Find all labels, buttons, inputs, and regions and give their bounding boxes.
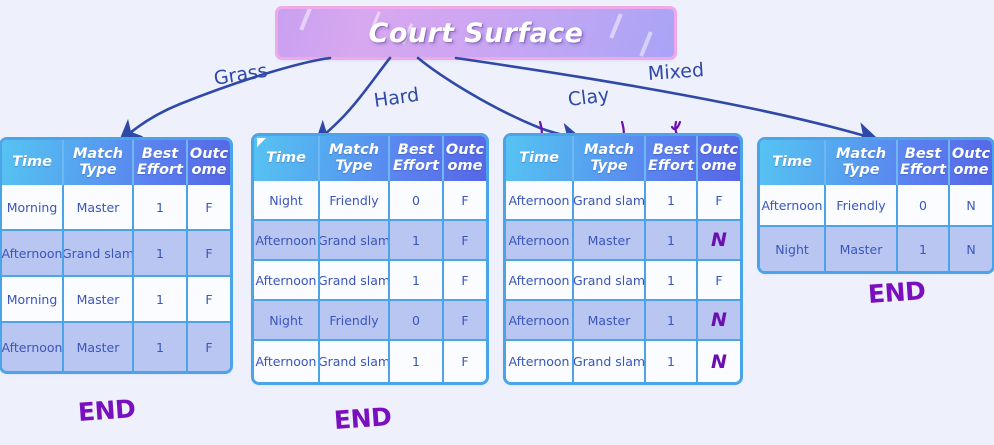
- column-header-match-type: MatchType: [64, 140, 134, 185]
- column-header-best-effort: BestEffort: [390, 136, 444, 181]
- table-row[interactable]: Afternoon Grand slam 1 F: [254, 221, 486, 261]
- cell-time: Afternoon: [506, 221, 574, 261]
- cell-time: Afternoon: [254, 221, 320, 261]
- end-annotation-grass: END: [77, 394, 136, 427]
- cell-best-effort: 1: [390, 341, 444, 382]
- leaf-table-hard[interactable]: Time MatchType BestEffort Outcome Night …: [254, 136, 486, 382]
- diagram-canvas: Court Surface Grass Hard Clay Mixed Time…: [0, 0, 994, 445]
- cell-best-effort: 1: [898, 227, 950, 271]
- cell-best-effort: 1: [134, 323, 188, 371]
- cell-outcome: F: [444, 301, 486, 341]
- leaf-table-clay[interactable]: Time MatchType BestEffort Outcome Aftern…: [506, 136, 740, 382]
- cell-outcome: F: [188, 231, 230, 277]
- table-row[interactable]: Night Master 1 N: [760, 227, 992, 271]
- cell-match-type: Master: [826, 227, 898, 271]
- column-header-best-effort: BestEffort: [134, 140, 188, 185]
- cell-time: Afternoon: [760, 185, 826, 227]
- column-header-time: Time: [760, 140, 826, 185]
- table-row[interactable]: Afternoon Grand slam 1 N: [506, 341, 740, 382]
- cell-time: Afternoon: [254, 341, 320, 382]
- table-row[interactable]: Afternoon Friendly 0 N: [760, 185, 992, 227]
- cell-outcome: F: [188, 323, 230, 371]
- cell-match-type: Grand slam: [320, 341, 390, 382]
- cell-time: Night: [254, 301, 320, 341]
- column-header-match-type: MatchType: [826, 140, 898, 185]
- table-header-row: Time MatchType BestEffort Outcome: [254, 136, 486, 181]
- cell-outcome: F: [444, 181, 486, 221]
- cell-match-type: Grand slam: [574, 261, 646, 301]
- cell-outcome: F: [444, 221, 486, 261]
- table-row[interactable]: Afternoon Master 1 N: [506, 221, 740, 261]
- cell-outcome: F: [188, 277, 230, 323]
- column-header-outcome: Outcome: [698, 136, 740, 181]
- cell-best-effort: 0: [898, 185, 950, 227]
- cell-match-type: Master: [64, 277, 134, 323]
- table-row[interactable]: Night Friendly 0 F: [254, 181, 486, 221]
- end-annotation-hard: END: [333, 402, 392, 435]
- cell-match-type: Grand slam: [320, 221, 390, 261]
- column-header-outcome: Outcome: [950, 140, 992, 185]
- tick-mark-best-effort: [672, 122, 680, 136]
- edge-arrow-clay: [418, 58, 576, 138]
- corner-marker-icon: [257, 138, 266, 147]
- cell-best-effort: 1: [646, 301, 698, 341]
- edge-label-hard: Hard: [372, 84, 420, 112]
- cell-outcome: F: [444, 341, 486, 382]
- cell-time: Afternoon: [506, 301, 574, 341]
- cell-match-type: Friendly: [320, 181, 390, 221]
- leaf-table-grass[interactable]: Time MatchType BestEffort Outcome Mornin…: [2, 140, 230, 371]
- sheen-streak: [609, 13, 622, 39]
- table-row[interactable]: Afternoon Master 1 N: [506, 301, 740, 341]
- cell-time: Afternoon: [506, 341, 574, 382]
- root-node-court-surface[interactable]: Court Surface: [278, 9, 674, 57]
- cell-match-type: Grand slam: [574, 181, 646, 221]
- table-row[interactable]: Morning Master 1 F: [2, 277, 230, 323]
- cell-match-type: Master: [574, 221, 646, 261]
- cell-time: Afternoon: [254, 261, 320, 301]
- sheen-streak: [639, 31, 652, 57]
- table-row[interactable]: Morning Master 1 F: [2, 185, 230, 231]
- cell-outcome: F: [698, 261, 740, 301]
- table-header-row: Time MatchType BestEffort Outcome: [760, 140, 992, 185]
- cell-best-effort: 1: [646, 261, 698, 301]
- cell-time: Afternoon: [506, 261, 574, 301]
- column-header-match-type: MatchType: [574, 136, 646, 181]
- cell-best-effort: 1: [646, 341, 698, 382]
- cell-outcome: F: [444, 261, 486, 301]
- column-header-outcome: Outcome: [444, 136, 486, 181]
- table-row[interactable]: Afternoon Master 1 F: [2, 323, 230, 371]
- table-row[interactable]: Afternoon Grand slam 1 F: [2, 231, 230, 277]
- cell-best-effort: 1: [646, 181, 698, 221]
- edge-label-clay: Clay: [567, 84, 611, 111]
- edge-label-mixed: Mixed: [647, 59, 704, 85]
- cell-best-effort: 1: [134, 277, 188, 323]
- cell-time: Night: [254, 181, 320, 221]
- cell-best-effort: 0: [390, 181, 444, 221]
- cell-time: Morning: [2, 185, 64, 231]
- end-annotation-mixed: END: [867, 276, 926, 309]
- edge-label-grass: Grass: [212, 60, 269, 90]
- cell-outcome: N: [950, 227, 992, 271]
- cell-outcome: N: [950, 185, 992, 227]
- cell-match-type: Grand slam: [320, 261, 390, 301]
- table-row[interactable]: Afternoon Grand slam 1 F: [254, 261, 486, 301]
- cell-best-effort: 1: [646, 221, 698, 261]
- table-row[interactable]: Afternoon Grand slam 1 F: [506, 181, 740, 221]
- cell-time: Afternoon: [506, 181, 574, 221]
- cell-match-type: Grand slam: [574, 341, 646, 382]
- column-header-match-type: MatchType: [320, 136, 390, 181]
- leaf-table-mixed[interactable]: Time MatchType BestEffort Outcome Aftern…: [760, 140, 992, 271]
- cell-match-type: Friendly: [320, 301, 390, 341]
- cell-outcome: N: [698, 341, 740, 382]
- cell-best-effort: 1: [390, 261, 444, 301]
- column-header-best-effort: BestEffort: [898, 140, 950, 185]
- table-row[interactable]: Night Friendly 0 F: [254, 301, 486, 341]
- sheen-streak: [299, 9, 312, 31]
- column-header-outcome: Outcome: [188, 140, 230, 185]
- column-header-best-effort: BestEffort: [646, 136, 698, 181]
- cell-match-type: Master: [574, 301, 646, 341]
- cell-outcome: N: [698, 221, 740, 261]
- cell-match-type: Master: [64, 185, 134, 231]
- cell-outcome: F: [188, 185, 230, 231]
- cell-outcome: N: [698, 301, 740, 341]
- cell-match-type: Grand slam: [64, 231, 134, 277]
- cell-time: Afternoon: [2, 231, 64, 277]
- cell-best-effort: 1: [134, 231, 188, 277]
- cell-time: Afternoon: [2, 323, 64, 371]
- cell-match-type: Master: [64, 323, 134, 371]
- cell-time: Morning: [2, 277, 64, 323]
- cell-best-effort: 0: [390, 301, 444, 341]
- cell-best-effort: 1: [390, 221, 444, 261]
- table-row[interactable]: Afternoon Grand slam 1 F: [506, 261, 740, 301]
- table-row[interactable]: Afternoon Grand slam 1 F: [254, 341, 486, 382]
- column-header-time: Time: [2, 140, 64, 185]
- cell-match-type: Friendly: [826, 185, 898, 227]
- root-node-label: Court Surface: [369, 18, 584, 49]
- cell-outcome: F: [698, 181, 740, 221]
- column-header-time: Time: [506, 136, 574, 181]
- cell-time: Night: [760, 227, 826, 271]
- table-header-row: Time MatchType BestEffort Outcome: [506, 136, 740, 181]
- table-header-row: Time MatchType BestEffort Outcome: [2, 140, 230, 185]
- cell-best-effort: 1: [134, 185, 188, 231]
